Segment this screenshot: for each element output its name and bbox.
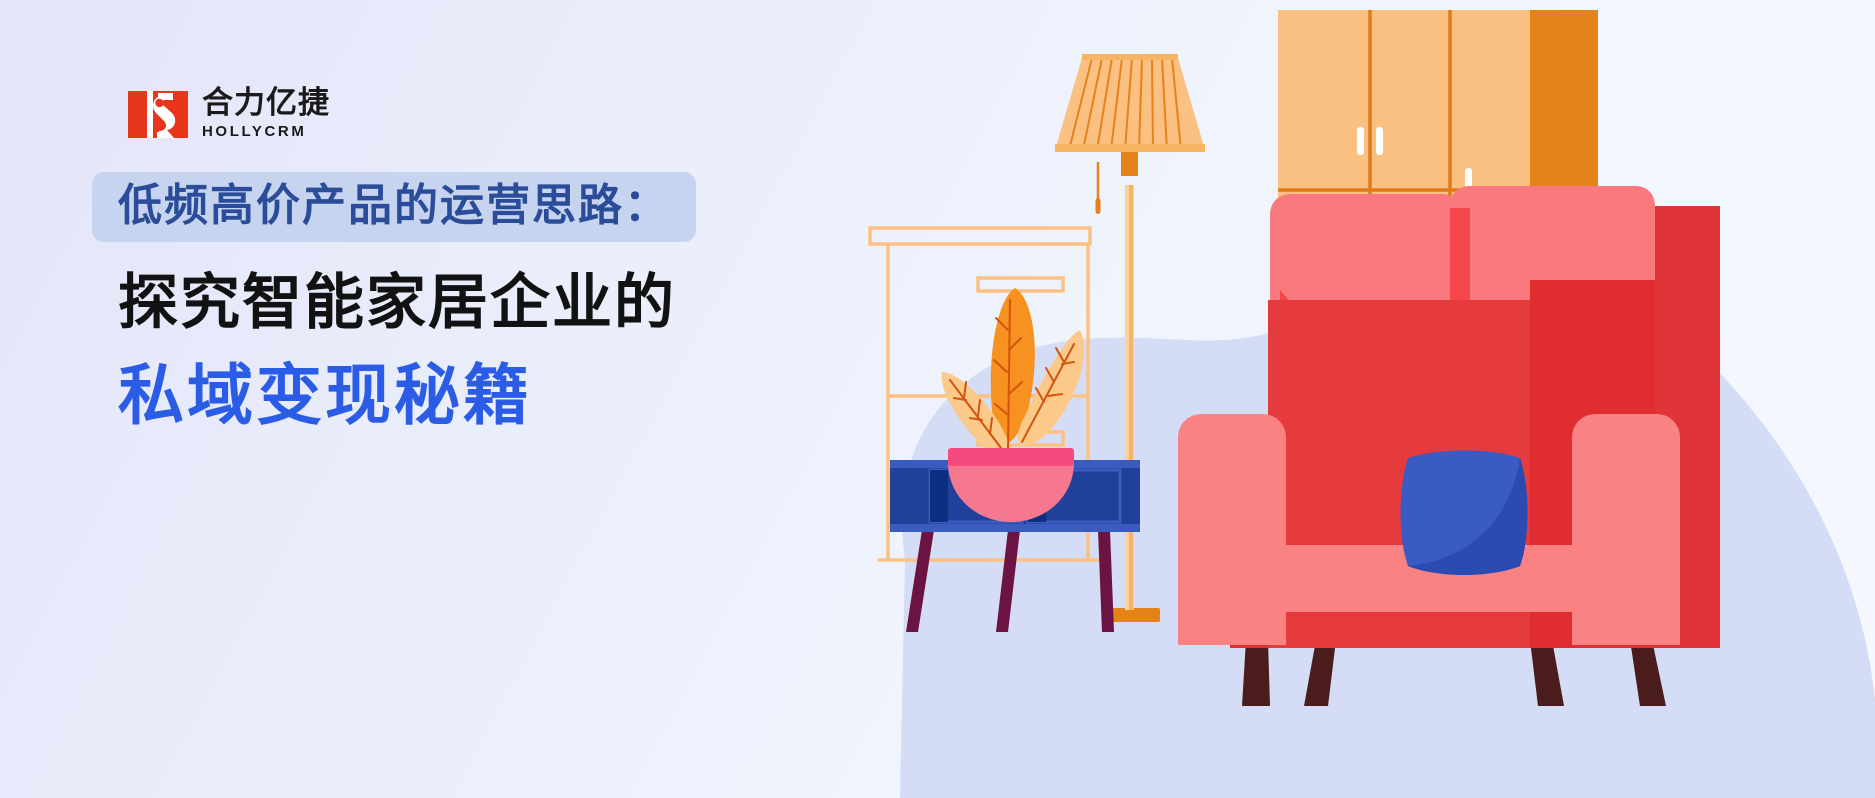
throw-pillow-icon: [1401, 451, 1528, 576]
headline-line1-highlight: 低频高价产品的运营思路：: [92, 172, 696, 242]
headline-line2: 探究智能家居企业的: [118, 272, 696, 335]
brand-logo[interactable]: 合力亿捷 HOLLYCRM: [128, 88, 330, 141]
hollycrm-logo-mark-icon: [128, 91, 188, 138]
marketing-banner: 合力亿捷 HOLLYCRM 低频高价产品的运营思路： 探究智能家居企业的 私域变…: [0, 0, 1875, 798]
headline-line1: 低频高价产品的运营思路：: [118, 184, 670, 228]
smart-home-illustration: [830, 0, 1875, 798]
logo-company-name-en: HOLLYCRM: [202, 123, 330, 142]
headline-block: 低频高价产品的运营思路： 探究智能家居企业的 私域变现秘籍: [92, 172, 696, 430]
logo-company-name-cn: 合力亿捷: [202, 88, 330, 120]
potted-plant-icon: [942, 288, 1084, 522]
armchair-icon: [1178, 186, 1720, 706]
logo-wordmark: 合力亿捷 HOLLYCRM: [202, 88, 330, 141]
headline-line3: 私域变现秘籍: [118, 361, 696, 430]
